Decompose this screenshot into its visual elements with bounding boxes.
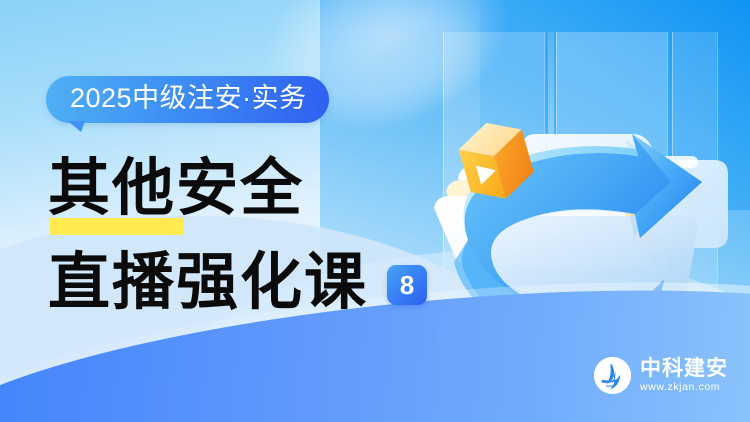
headline-line-2: 直播强化课 — [48, 252, 368, 314]
course-poster: 2025中级注安·实务 其他安全 直播强化课 8 中科建安 www.zkjan.… — [0, 0, 750, 422]
brand-name: 中科建安 — [640, 358, 728, 379]
badge-tail — [68, 121, 85, 132]
brand-url: www.zkjan.com — [640, 382, 728, 393]
episode-number-badge: 8 — [387, 265, 427, 305]
zkjan-circle-logo-icon — [594, 357, 631, 394]
course-category-badge: 2025中级注安·实务 — [46, 76, 329, 123]
brand-logo-text: 中科建安 www.zkjan.com — [640, 358, 728, 393]
course-category-label: 2025中级注安·实务 — [70, 83, 307, 113]
brand-logo: 中科建安 www.zkjan.com — [594, 357, 728, 394]
headline-line-1: 其他安全 — [48, 158, 304, 220]
